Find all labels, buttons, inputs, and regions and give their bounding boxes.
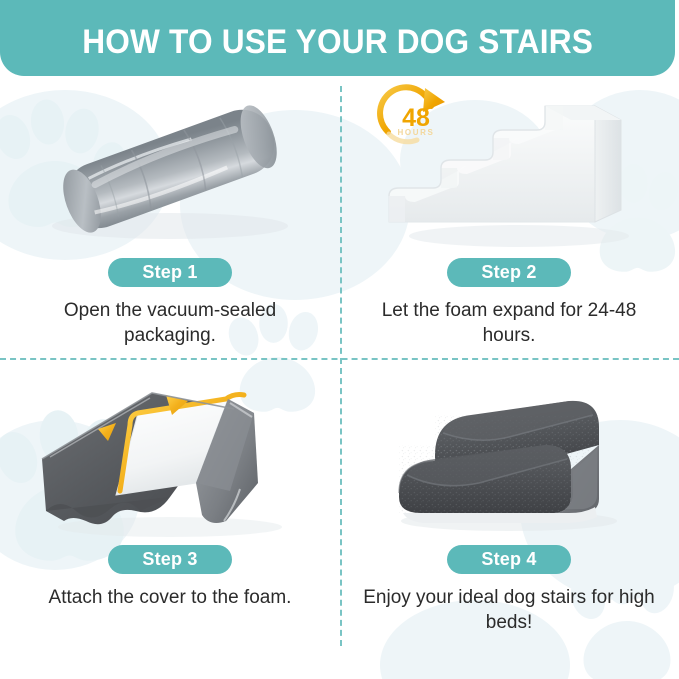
step-card-3: Step 3 Attach the cover to the foam.: [0, 363, 340, 643]
hours-unit-label: HOURS: [373, 128, 459, 137]
vertical-divider: [340, 86, 342, 646]
header-banner: HOW TO USE YOUR DOG STAIRS: [0, 0, 675, 76]
step-badge: Step 3: [108, 545, 231, 574]
step-caption: Open the vacuum-sealed packaging.: [20, 298, 320, 348]
48-hours-overlay: 48 HOURS: [373, 78, 459, 154]
step-badge: Step 1: [108, 258, 231, 287]
step-card-4: Step 4 Enjoy your ideal dog stairs for h…: [339, 363, 679, 643]
step-caption: Attach the cover to the foam.: [20, 585, 320, 610]
page-title: HOW TO USE YOUR DOG STAIRS: [82, 23, 593, 62]
step-caption: Let the foam expand for 24-48 hours.: [359, 298, 659, 348]
infographic-page: HOW TO USE YOUR DOG STAIRS: [0, 0, 679, 679]
step-card-1: Step 1 Open the vacuum-sealed packaging.: [0, 80, 340, 360]
step-1-illustration: [20, 84, 320, 252]
step-caption: Enjoy your ideal dog stairs for high bed…: [359, 585, 659, 635]
step-4-illustration: [359, 371, 659, 539]
step-badge: Step 4: [447, 545, 570, 574]
step-2-illustration: 48 HOURS: [359, 84, 659, 252]
step-card-2: 48 HOURS Step 2 Let the foam expand for …: [339, 80, 679, 360]
step-badge: Step 2: [447, 258, 570, 287]
step-3-illustration: [20, 371, 320, 539]
